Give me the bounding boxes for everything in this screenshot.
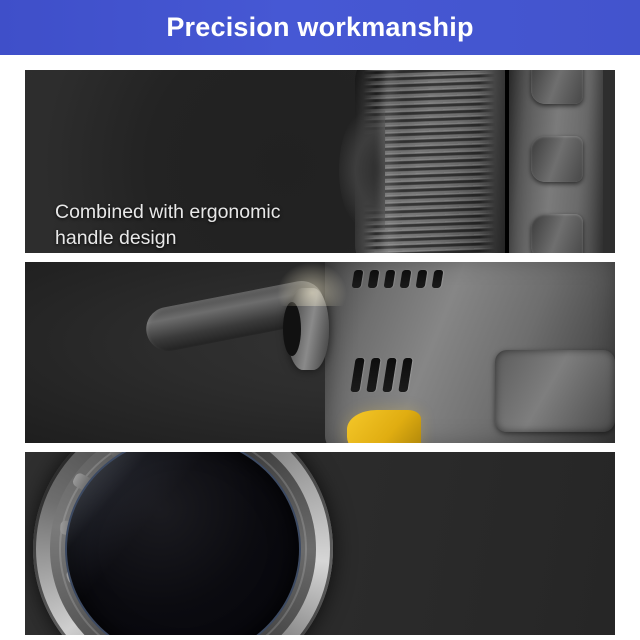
product-feature-infographic: Precision workmanship Combined with ergo… (0, 0, 640, 640)
vent-slat (382, 358, 396, 392)
led-light-glow (277, 262, 347, 306)
vent-slat-group-lower (350, 358, 412, 392)
vent-slat-group-upper (352, 270, 444, 288)
page-title: Precision workmanship (166, 12, 473, 43)
vent-slat (352, 270, 364, 288)
grip-finger-pad (531, 70, 583, 104)
gauge-face-rim-shadow (33, 452, 333, 635)
vent-slat (384, 270, 396, 288)
feature-caption-ergonomic-grip: Combined with ergonomic handle design (55, 200, 355, 251)
grip-finger-pad (531, 214, 583, 253)
hose-collar-bore (283, 302, 301, 356)
grip-seam-line (505, 70, 509, 253)
vent-slat (368, 270, 380, 288)
vent-slat (400, 270, 412, 288)
vent-slat (366, 358, 380, 392)
yellow-trigger-accent (347, 410, 421, 443)
grip-specular-highlight (381, 70, 403, 253)
feature-panel-ergonomic-grip: Combined with ergonomic handle design (25, 70, 615, 253)
product-image-grip (325, 70, 615, 253)
header-banner: Precision workmanship (0, 0, 640, 55)
side-panel-plate (495, 350, 615, 432)
grip-finger-pad (531, 136, 583, 182)
feature-panel-digital-display: R 2.50 BAR − + Intelligent digital displ… (25, 452, 615, 635)
vent-slat (416, 270, 428, 288)
feature-panel-led-lighting: LED lighting (25, 262, 615, 443)
